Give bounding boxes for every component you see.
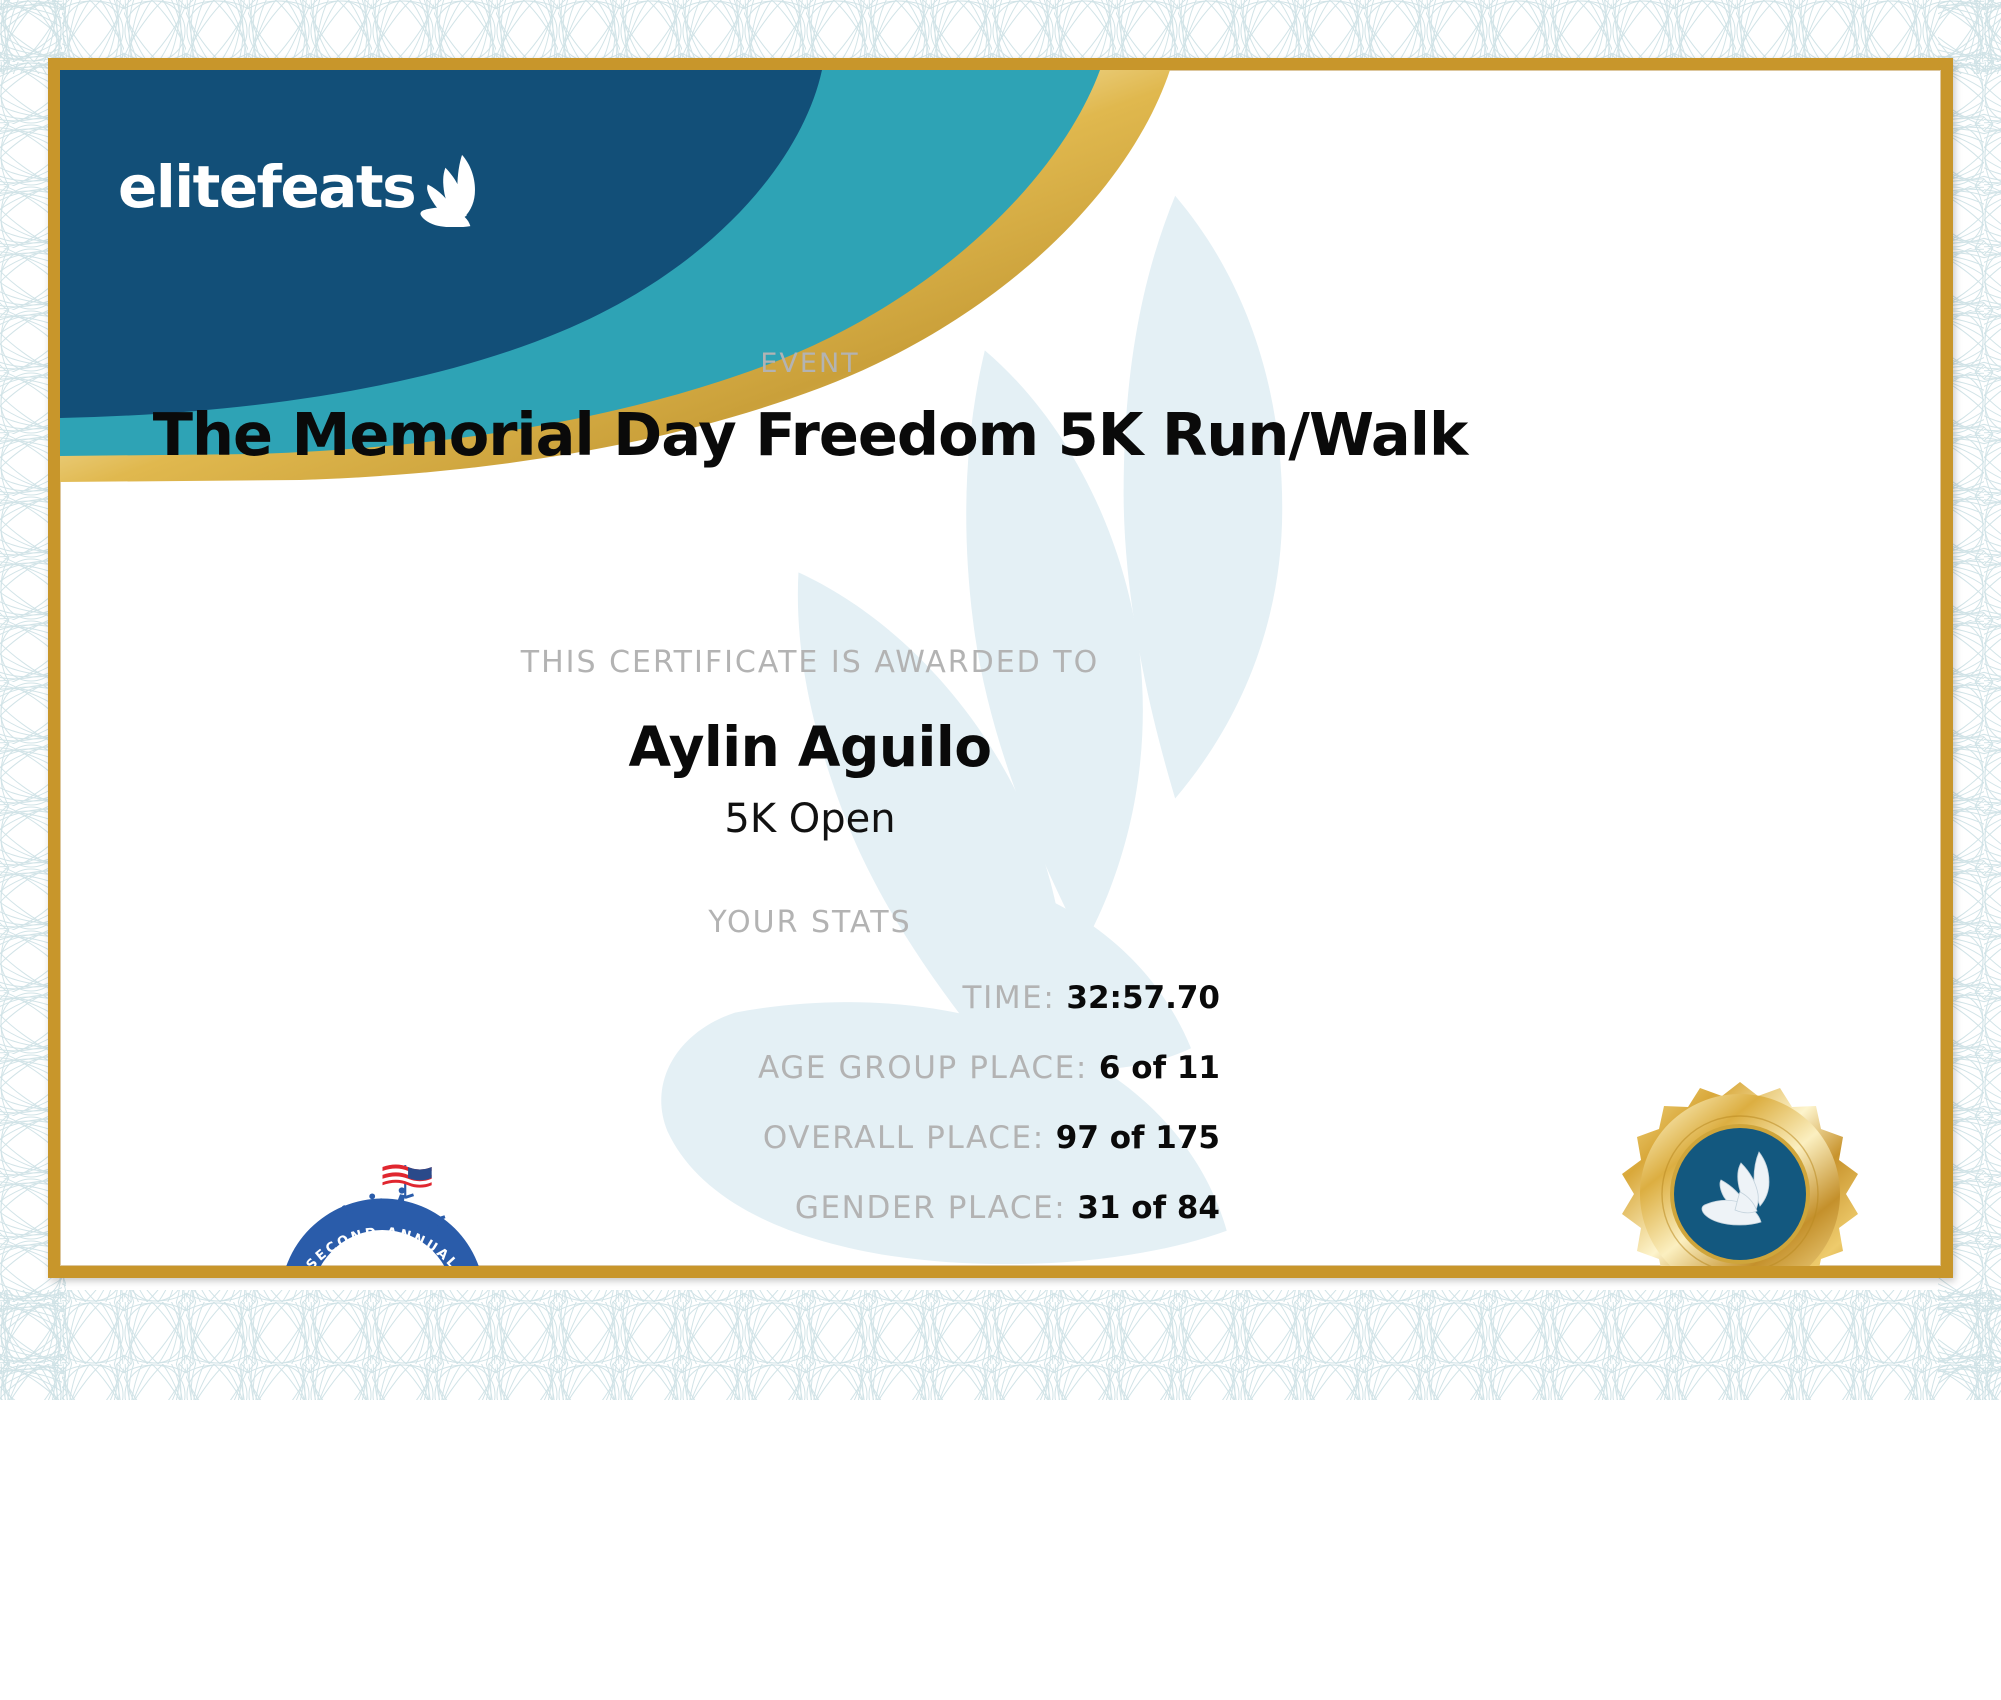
stat-label: AGE GROUP PLACE:: [758, 1050, 1088, 1086]
winged-foot-icon: [417, 153, 483, 227]
your-stats-label: YOUR STATS: [60, 905, 1560, 940]
stat-value: 97 of 175: [1056, 1120, 1220, 1156]
finisher-medal-badge: 2025: [1555, 1070, 1925, 1278]
stats-list: TIME: 32:57.70 AGE GROUP PLACE: 6 of 11 …: [60, 980, 1220, 1260]
usa-flag-icon: [383, 1165, 432, 1199]
event-label: EVENT: [60, 348, 1560, 379]
recipient-name: Aylin Aguilo: [60, 715, 1560, 779]
recipient-division: 5K Open: [60, 796, 1560, 842]
memorial-day-freedom-5k-logo: SECOND ANNUAL THE MEMORIAL DAY FREEDOM 5…: [235, 1155, 530, 1278]
certificate-frame: elitefeats EVENT The Memorial Day Freedo…: [48, 58, 1953, 1278]
awarded-to-label: THIS CERTIFICATE IS AWARDED TO: [60, 645, 1560, 680]
stat-row: AGE GROUP PLACE: 6 of 11: [60, 1050, 1220, 1094]
stat-row: OVERALL PLACE: 97 of 175: [60, 1120, 1220, 1164]
stat-value: 31 of 84: [1077, 1190, 1220, 1226]
stat-label: GENDER PLACE:: [795, 1190, 1066, 1226]
stat-label: TIME:: [963, 980, 1056, 1016]
stat-value: 6 of 11: [1099, 1050, 1220, 1086]
stat-value: 32:57.70: [1066, 980, 1220, 1016]
brand-name: elitefeats: [118, 158, 415, 216]
stat-row: GENDER PLACE: 31 of 84: [60, 1190, 1220, 1234]
elitefeats-logo: elitefeats: [118, 147, 483, 227]
medal-rosette: [1622, 1082, 1858, 1278]
stat-row: TIME: 32:57.70: [60, 980, 1220, 1024]
event-title: The Memorial Day Freedom 5K Run/Walk: [60, 400, 1560, 469]
stat-label: OVERALL PLACE:: [763, 1120, 1045, 1156]
